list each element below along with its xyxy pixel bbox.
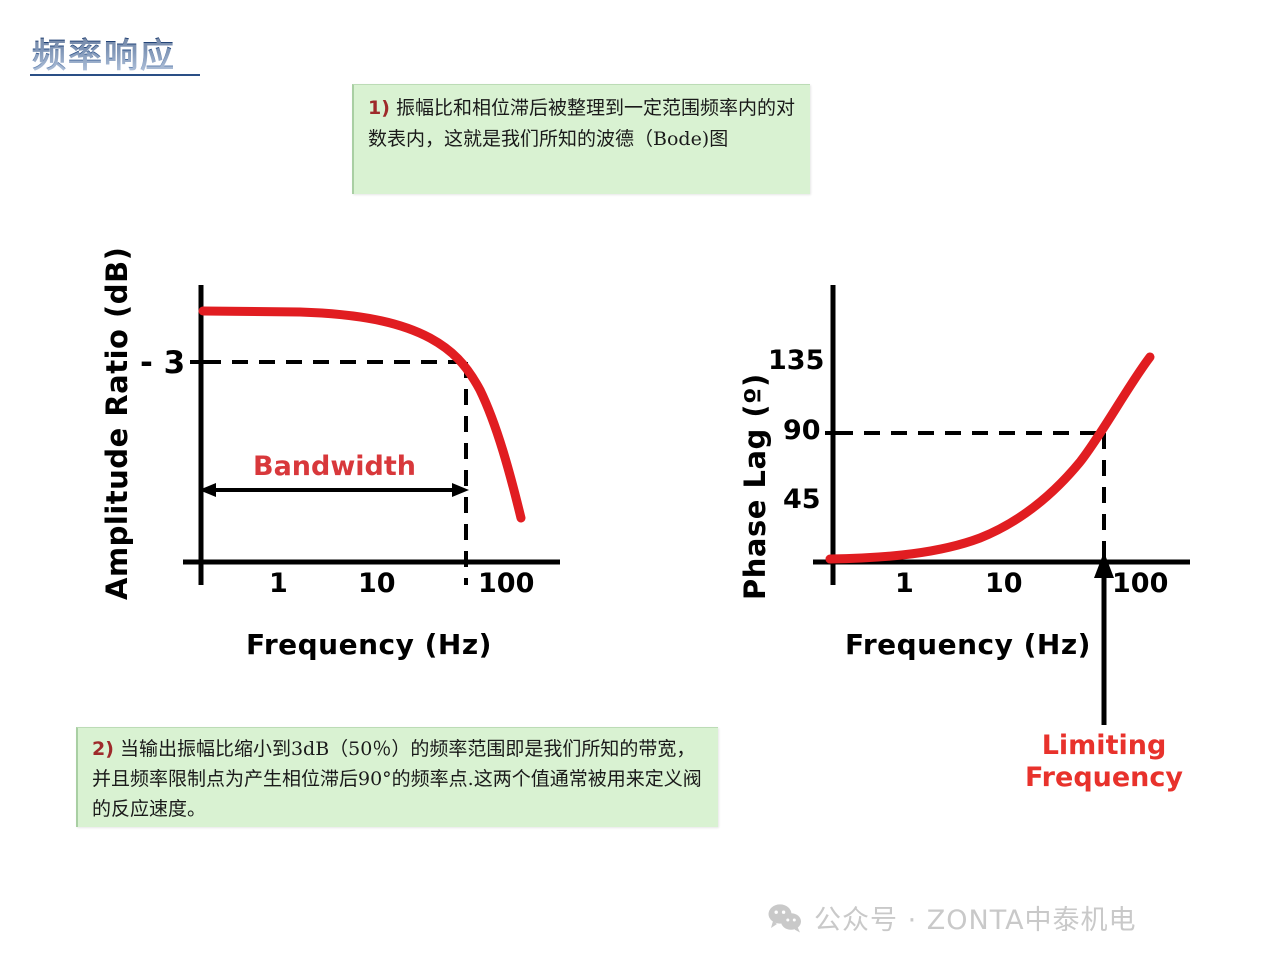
y-tick-label-45: 45 (783, 484, 821, 515)
watermark-text: 公众号 · ZONTA中泰机电 (814, 898, 1137, 937)
limiting-frequency-line2: Frequency (996, 762, 1212, 794)
limiting-frequency-line1: Limiting (996, 730, 1212, 762)
y-tick-label-90: 90 (783, 415, 821, 446)
callout-2-text: 当输出振幅比缩小到3dB（50％）的频率范围即是我们所知的带宽，并且频率限制点为… (92, 738, 702, 820)
callout-box-2: 2) 当输出振幅比缩小到3dB（50％）的频率范围即是我们所知的带宽，并且频率限… (76, 727, 718, 827)
chart-phase-lag: Phase Lag (º) 135 90 45 1 10 100 Frequen… (680, 0, 1280, 830)
limiting-frequency-label: Limiting Frequency (996, 730, 1212, 794)
x-tick-label-10: 10 (985, 568, 1023, 599)
wechat-icon (768, 903, 802, 933)
x-tick-label-100: 100 (1112, 568, 1168, 599)
x-axis-title-frequency-left: Frequency (Hz) (246, 628, 492, 661)
x-tick-label-1: 1 (269, 568, 288, 599)
limiting-frequency-arrow (1094, 552, 1114, 725)
chart-amplitude-ratio: Amplitude Ratio (dB) - 3 Bandwidth 1 10 … (0, 0, 600, 700)
y-axis-title-phase: Phase Lag (º) (738, 373, 772, 600)
watermark: 公众号 · ZONTA中泰机电 (768, 898, 1137, 937)
x-tick-label-10: 10 (358, 568, 396, 599)
bandwidth-arrow (199, 483, 469, 497)
callout-2-number: 2) (92, 738, 114, 760)
bandwidth-label: Bandwidth (253, 451, 416, 482)
x-tick-label-100: 100 (478, 568, 534, 599)
x-axis-title-frequency-right: Frequency (Hz) (845, 628, 1091, 661)
slide-canvas: 频率响应 1) 振幅比和相位滞后被整理到一定范围频率内的对数表内，这就是我们所知… (0, 0, 1280, 960)
x-tick-label-1: 1 (895, 568, 914, 599)
amplitude-response-curve (203, 311, 521, 518)
y-tick-label-minus3: - 3 (140, 345, 185, 381)
y-axis-title-amplitude: Amplitude Ratio (dB) (100, 247, 134, 600)
y-tick-label-135: 135 (768, 345, 824, 376)
